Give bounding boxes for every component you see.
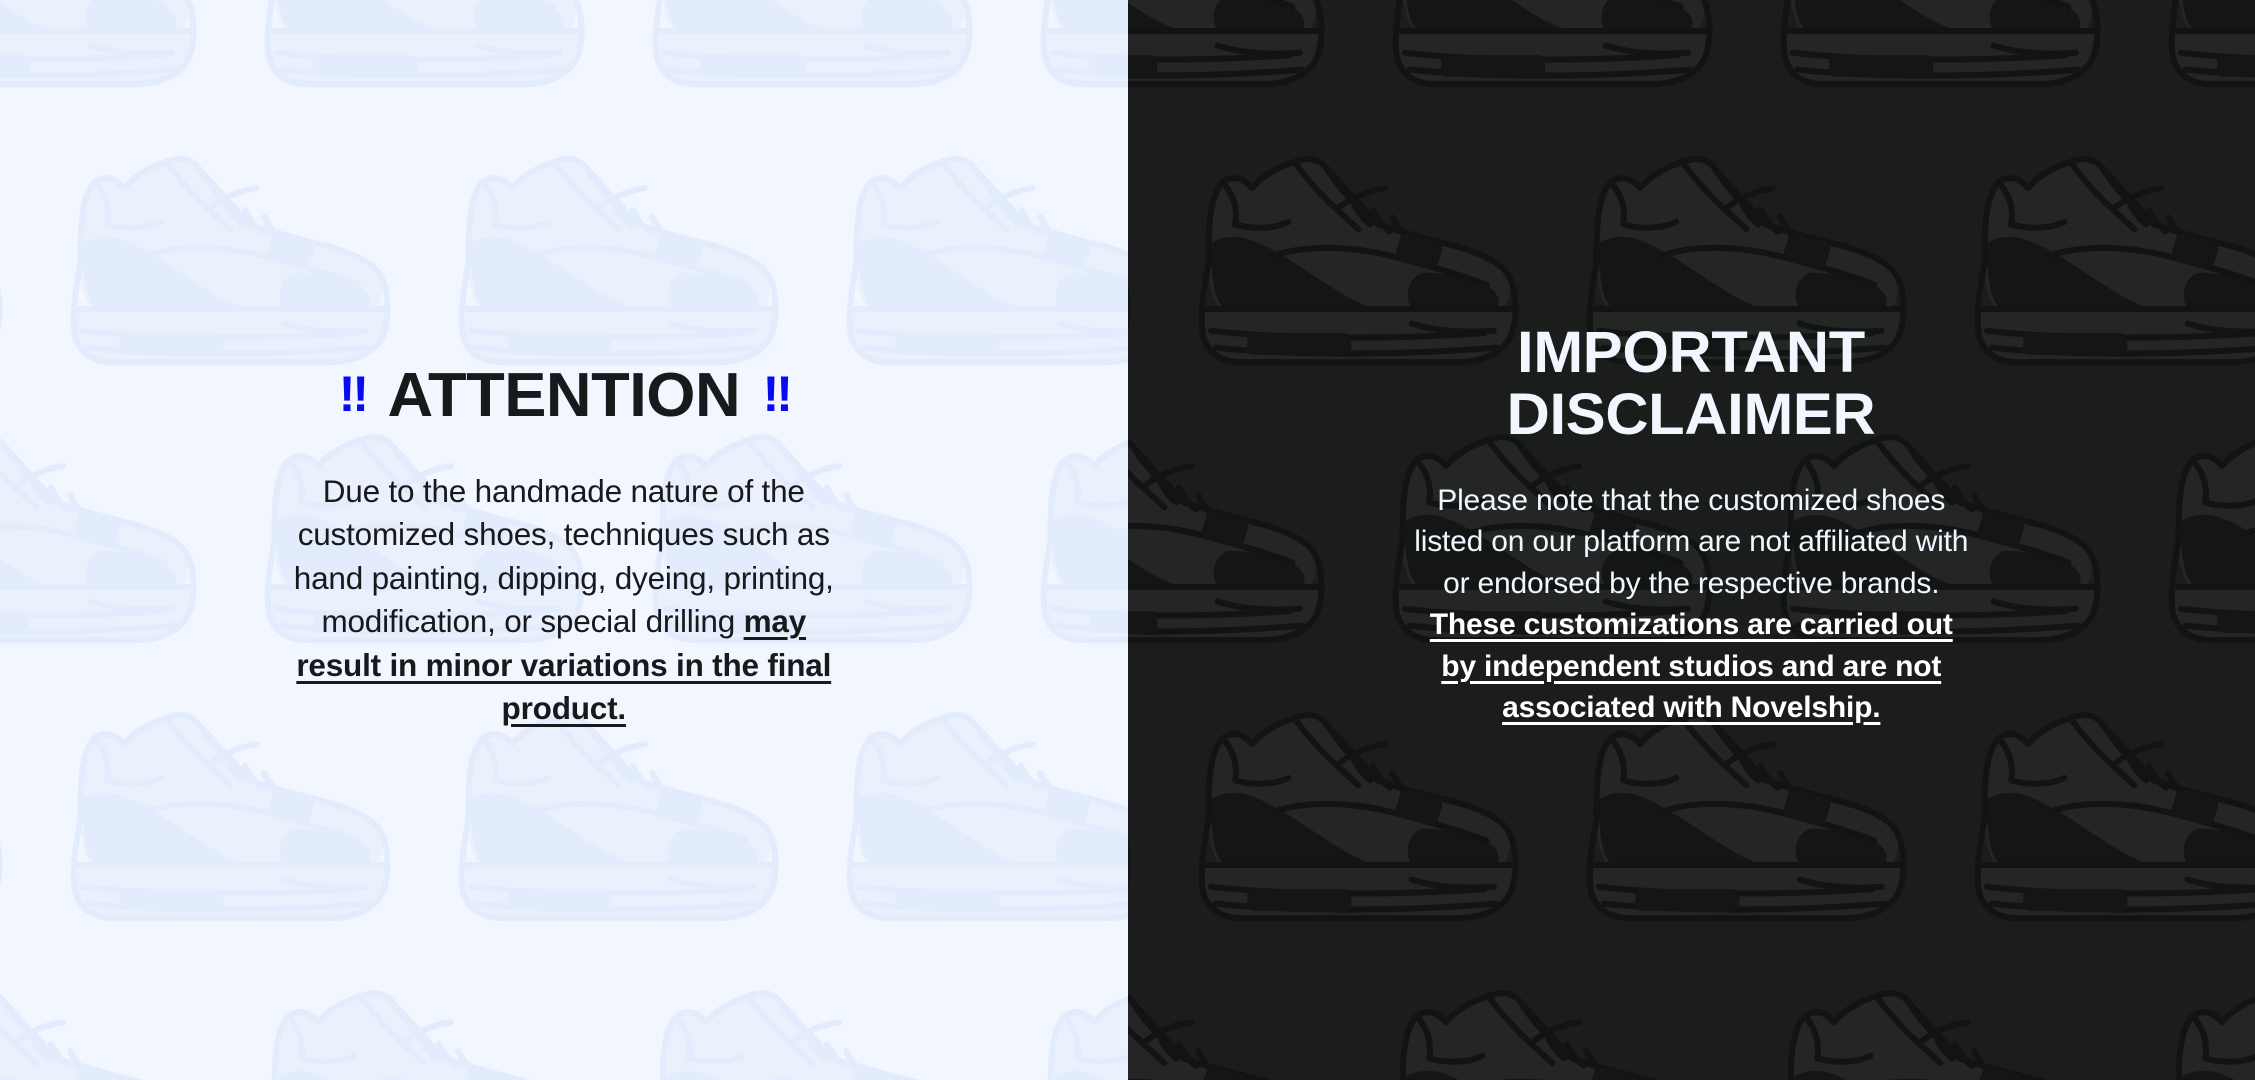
sneaker-icon: [1356, 952, 1744, 1080]
attention-body: Due to the handmade nature of the custom…: [284, 470, 844, 731]
attention-panel: ‼ ATTENTION ‼ Due to the handmade nature…: [0, 0, 1128, 1080]
sneaker-icon: [1744, 952, 2132, 1080]
disclaimer-body: Please note that the customized shoes li…: [1411, 480, 1971, 728]
disclaimer-heading: IMPORTANT DISCLAIMER: [1403, 322, 1980, 446]
disclaimer-body-normal: Please note that the customized shoes li…: [1414, 484, 1968, 600]
sneaker-pattern-row: [0, 952, 1128, 1080]
double-exclamation-icon-left: ‼: [339, 369, 365, 419]
attention-heading: ‼ ATTENTION ‼: [339, 365, 789, 427]
disclaimer-content: IMPORTANT DISCLAIMER Please note that th…: [1128, 0, 2255, 728]
attention-content: ‼ ATTENTION ‼ Due to the handmade nature…: [0, 0, 1128, 731]
sneaker-pattern-row: [1128, 952, 2255, 1080]
attention-heading-text: ATTENTION: [387, 365, 740, 427]
disclaimer-body-emphasis: These customizations are carried out by …: [1430, 608, 1953, 724]
sneaker-icon: [0, 952, 228, 1080]
disclaimer-banner: ‼ ATTENTION ‼ Due to the handmade nature…: [0, 0, 2255, 1080]
sneaker-icon: [2132, 952, 2255, 1080]
double-exclamation-icon-right: ‼: [763, 369, 789, 419]
sneaker-icon: [1004, 952, 1128, 1080]
sneaker-icon: [616, 952, 1004, 1080]
sneaker-icon: [228, 952, 616, 1080]
disclaimer-panel: IMPORTANT DISCLAIMER Please note that th…: [1128, 0, 2255, 1080]
sneaker-icon: [1128, 952, 1356, 1080]
